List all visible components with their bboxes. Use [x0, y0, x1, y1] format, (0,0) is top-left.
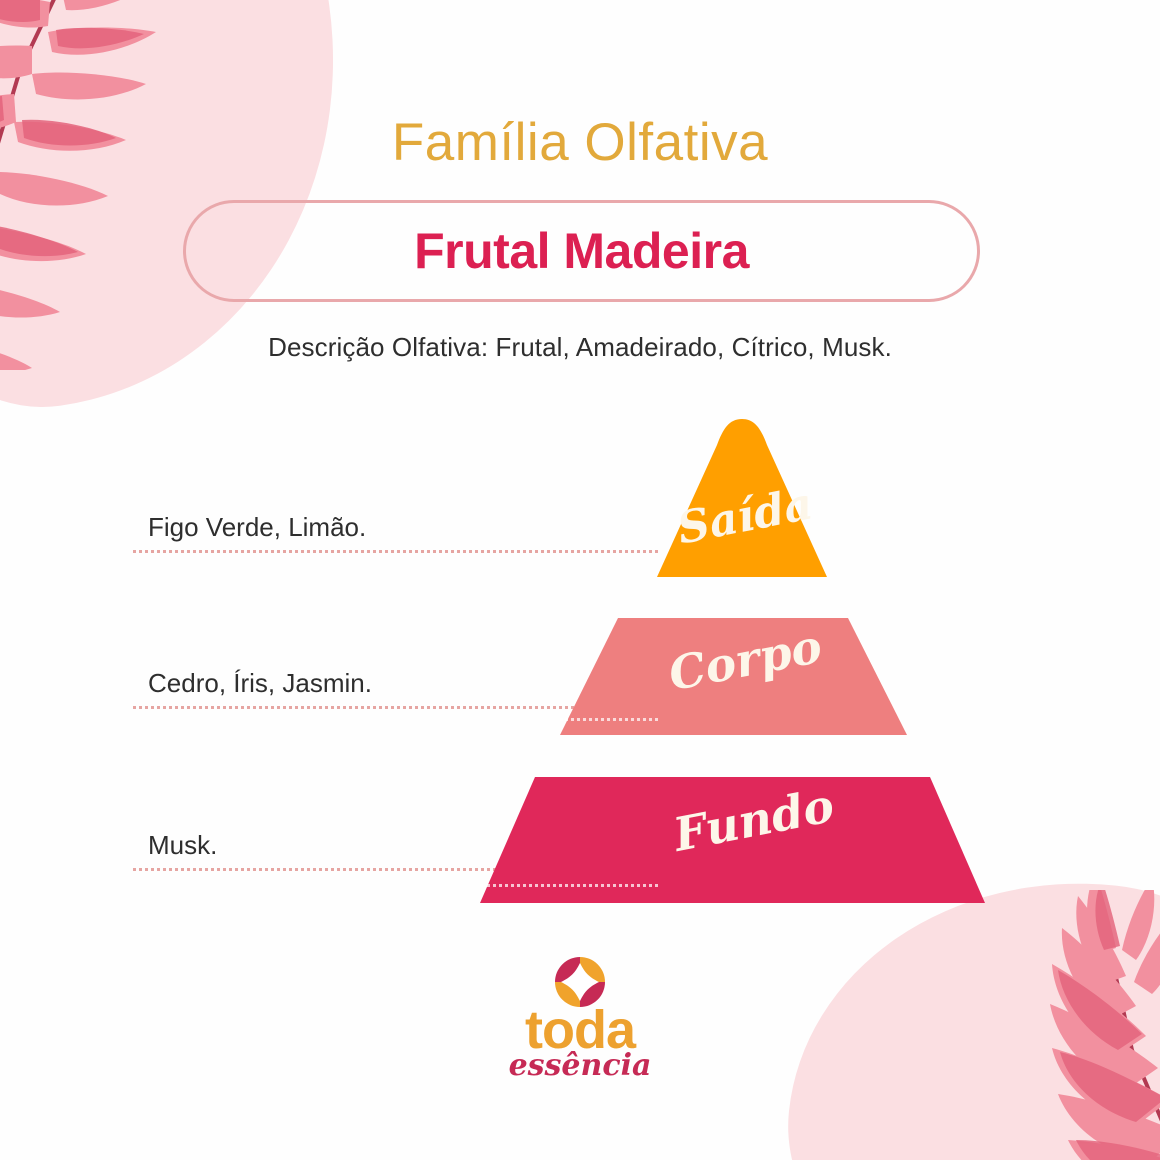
connector-line-corpo-overlay [560, 718, 658, 721]
pyramid-tier-saida [657, 419, 827, 577]
fragrance-name-pill: Frutal Madeira [183, 200, 980, 302]
brand-logo: toda essência [505, 955, 655, 1075]
page-title: Família Olfativa [0, 112, 1160, 173]
fragrance-name: Frutal Madeira [414, 222, 749, 280]
fern-leaf-icon-top-left [0, 0, 210, 370]
olfactory-description: Descrição Olfativa: Frutal, Amadeirado, … [0, 332, 1160, 363]
olfactory-pyramid: Saída Corpo Fundo [455, 415, 1015, 910]
palm-leaf-icon-bottom-right [870, 890, 1160, 1160]
connector-line-fundo-overlay [480, 884, 658, 887]
brand-name-secondary: essência [505, 1051, 655, 1081]
infographic-canvas: Família Olfativa Frutal Madeira Descriçã… [0, 0, 1160, 1160]
